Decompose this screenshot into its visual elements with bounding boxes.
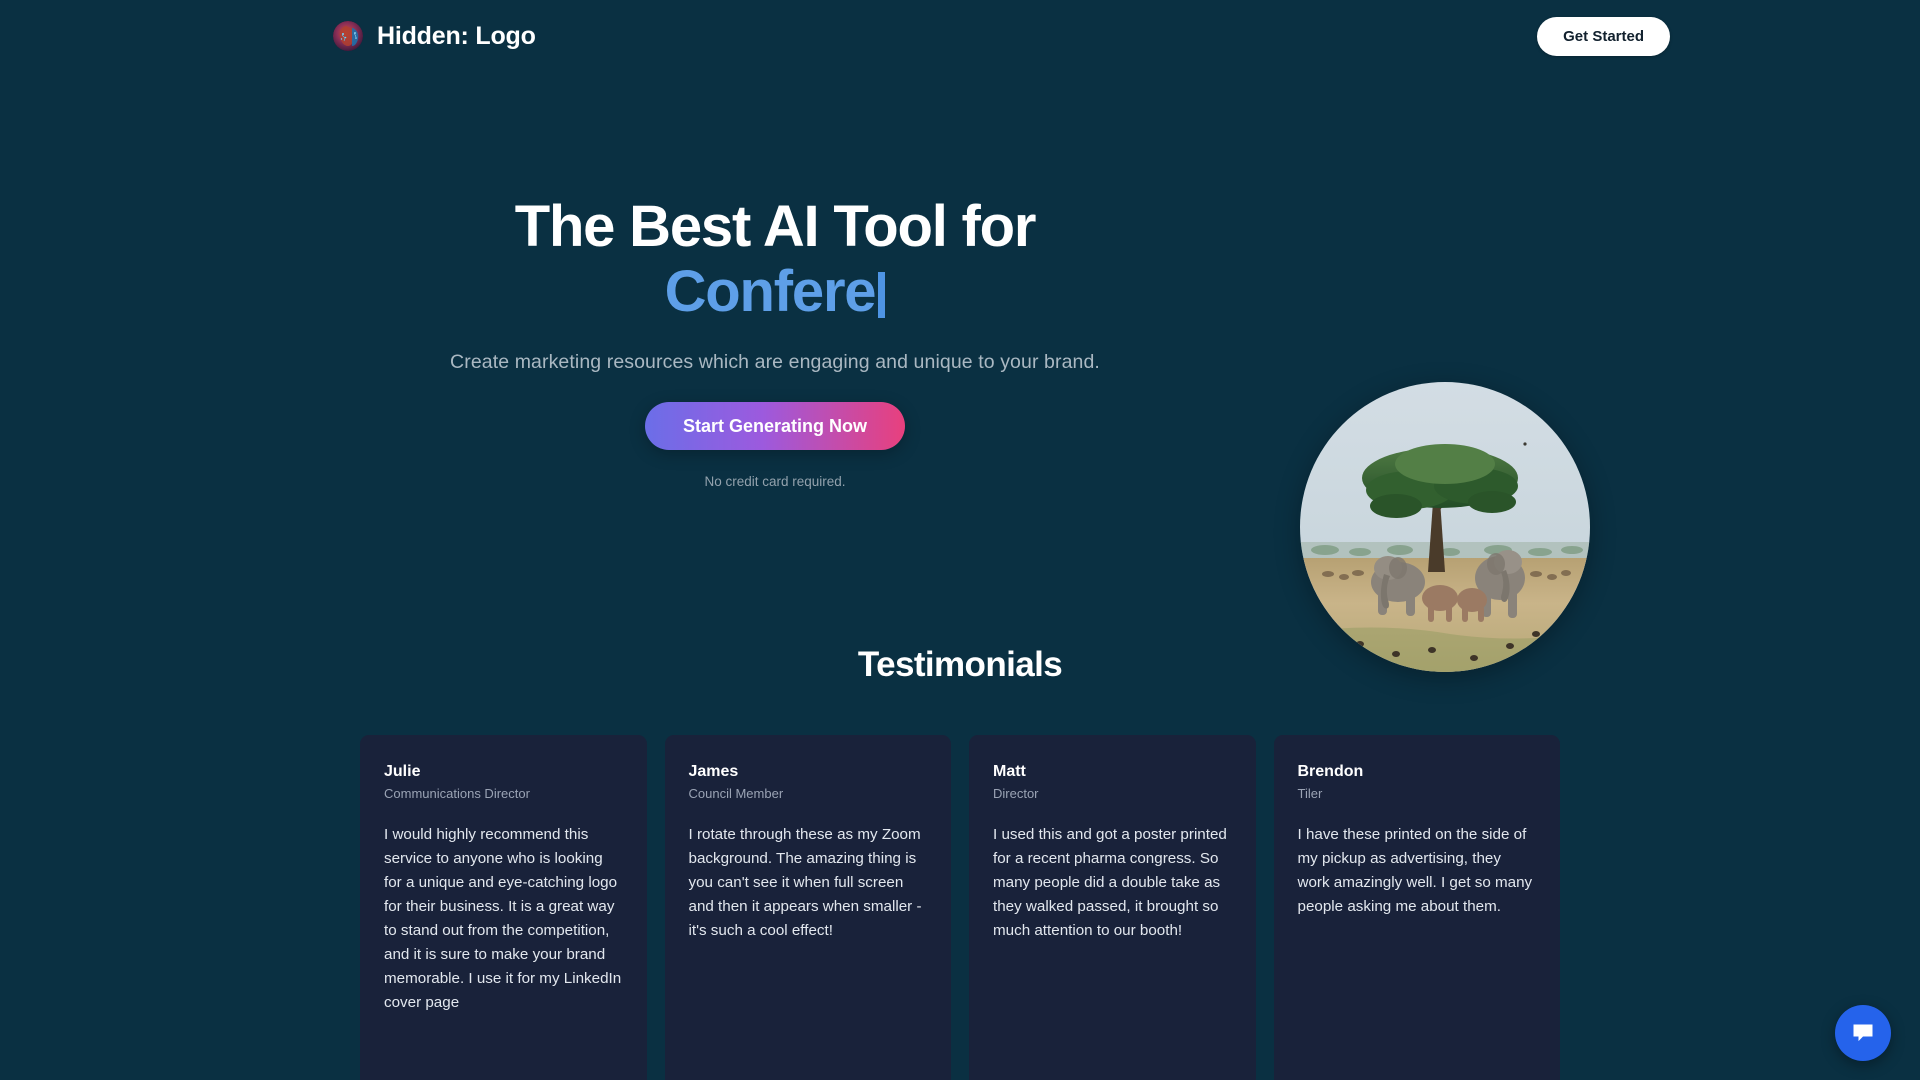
testimonial-quote: I rotate through these as my Zoom backgr… <box>689 823 928 943</box>
brand-title: Hidden: Logo <box>377 22 536 51</box>
hero-image <box>1300 382 1590 672</box>
testimonial-role: Tiler <box>1298 786 1537 802</box>
headline-static: The Best AI Tool for <box>515 194 1036 259</box>
headline-typed-word: Confere <box>665 259 876 324</box>
testimonial-role: Communications Director <box>384 786 623 802</box>
hero-section: The Best AI Tool for Confere Create mark… <box>0 170 1920 590</box>
testimonial-card: Julie Communications Director I would hi… <box>360 735 647 1080</box>
testimonials-title: Testimonials <box>0 645 1920 685</box>
testimonial-role: Director <box>993 786 1232 802</box>
testimonial-quote: I used this and got a poster printed for… <box>993 823 1232 943</box>
testimonial-card: James Council Member I rotate through th… <box>665 735 952 1080</box>
chat-widget-button[interactable] <box>1835 1005 1891 1061</box>
start-generating-button[interactable]: Start Generating Now <box>645 402 905 450</box>
hero-fineprint: No credit card required. <box>220 474 1330 489</box>
testimonials-list: Julie Communications Director I would hi… <box>360 735 1560 1080</box>
testimonial-name: Brendon <box>1298 762 1537 781</box>
brand[interactable]: Hidden: Logo <box>333 21 536 51</box>
testimonial-name: Matt <box>993 762 1232 781</box>
testimonial-card: Matt Director I used this and got a post… <box>969 735 1256 1080</box>
testimonial-name: James <box>689 762 928 781</box>
testimonial-card: Brendon Tiler I have these printed on th… <box>1274 735 1561 1080</box>
testimonial-quote: I have these printed on the side of my p… <box>1298 823 1537 919</box>
page-title: The Best AI Tool for Confere <box>220 195 1330 325</box>
testimonial-name: Julie <box>384 762 623 781</box>
testimonial-role: Council Member <box>689 786 928 802</box>
chat-bubble-icon <box>1850 1020 1876 1046</box>
hero-copy: The Best AI Tool for Confere Create mark… <box>220 195 1330 489</box>
typing-cursor <box>878 272 885 318</box>
get-started-button[interactable]: Get Started <box>1537 17 1670 56</box>
ai-face-logo-icon <box>333 21 363 51</box>
hero-subheadline: Create marketing resources which are eng… <box>220 351 1330 374</box>
testimonial-quote: I would highly recommend this service to… <box>384 823 623 1015</box>
site-header: Hidden: Logo Get Started <box>0 0 1920 72</box>
